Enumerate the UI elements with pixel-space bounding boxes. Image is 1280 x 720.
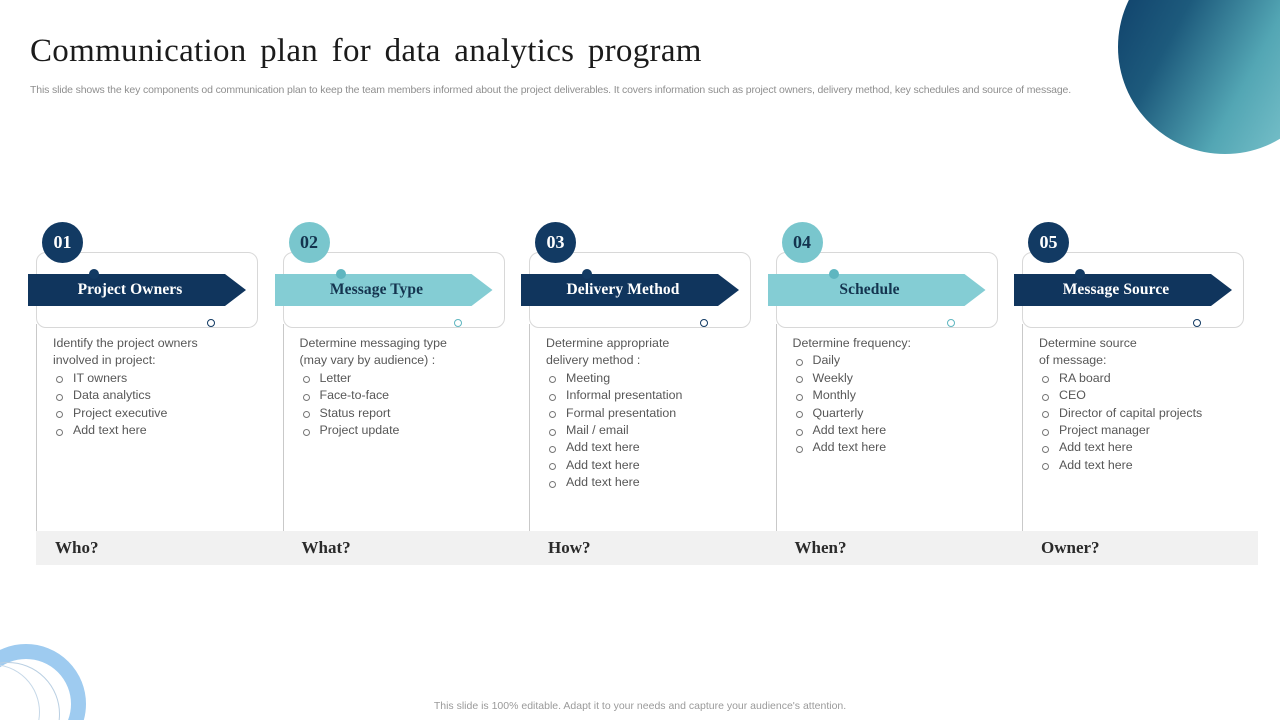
question-label-owner: Owner?	[1041, 531, 1100, 565]
question-label-what: What?	[302, 531, 351, 565]
list-item: Data analytics	[53, 387, 285, 404]
step-number-badge: 01	[42, 222, 83, 263]
plan-column-04[interactable]: Schedule04Determine frequency:DailyWeekl…	[776, 222, 1025, 532]
connector-dot-hollow	[207, 319, 215, 327]
list-item: RA board	[1039, 370, 1271, 387]
column-body: Identify the project owners involved in …	[53, 335, 285, 439]
column-banner[interactable]: Schedule	[768, 274, 986, 306]
plan-column-03[interactable]: Delivery Method03Determine appropriate d…	[529, 222, 778, 532]
plan-column-05[interactable]: Message Source05Determine source of mess…	[1022, 222, 1271, 532]
connector-dot-hollow	[700, 319, 708, 327]
column-divider	[36, 324, 37, 532]
connector-dot-hollow	[947, 319, 955, 327]
column-divider	[776, 324, 777, 532]
list-item: Add text here	[793, 439, 1025, 456]
column-banner[interactable]: Message Source	[1014, 274, 1232, 306]
communication-plan-columns: Project Owners01Identify the project own…	[36, 222, 1258, 532]
list-item: Add text here	[793, 422, 1025, 439]
connector-dot-filled	[89, 269, 99, 279]
list-item: Add text here	[1039, 439, 1271, 456]
column-bullet-list: DailyWeeklyMonthlyQuarterlyAdd text here…	[793, 352, 1025, 456]
list-item: Informal presentation	[546, 387, 778, 404]
list-item: Daily	[793, 352, 1025, 369]
list-item: Project update	[300, 422, 532, 439]
column-banner[interactable]: Project Owners	[28, 274, 246, 306]
list-item: CEO	[1039, 387, 1271, 404]
step-number-badge: 03	[535, 222, 576, 263]
column-body: Determine source of message:RA boardCEOD…	[1039, 335, 1271, 474]
connector-dot-filled	[829, 269, 839, 279]
list-item: Add text here	[1039, 457, 1271, 474]
column-banner-label: Schedule	[839, 281, 913, 299]
column-banner-label: Message Source	[1063, 281, 1184, 299]
list-item: Weekly	[793, 370, 1025, 387]
column-bullet-list: MeetingInformal presentationFormal prese…	[546, 370, 778, 492]
plan-column-01[interactable]: Project Owners01Identify the project own…	[36, 222, 285, 532]
column-bullet-list: LetterFace-to-faceStatus reportProject u…	[300, 370, 532, 440]
column-intro-text: Determine messaging type (may vary by au…	[300, 335, 532, 370]
column-bullet-list: RA boardCEODirector of capital projectsP…	[1039, 370, 1271, 474]
connector-dot-filled	[1075, 269, 1085, 279]
step-number-badge: 05	[1028, 222, 1069, 263]
connector-dot-hollow	[1193, 319, 1201, 327]
list-item: Project executive	[53, 405, 285, 422]
list-item: Formal presentation	[546, 405, 778, 422]
connector-dot-filled	[582, 269, 592, 279]
column-intro-text: Determine source of message:	[1039, 335, 1271, 370]
decorative-gradient-circle-top-right	[1118, 0, 1280, 154]
list-item: Add text here	[546, 457, 778, 474]
list-item: Project manager	[1039, 422, 1271, 439]
connector-dot-filled	[336, 269, 346, 279]
column-body: Determine frequency:DailyWeeklyMonthlyQu…	[793, 335, 1025, 457]
column-body: Determine messaging type (may vary by au…	[300, 335, 532, 439]
list-item: Quarterly	[793, 405, 1025, 422]
column-body: Determine appropriate delivery method :M…	[546, 335, 778, 492]
column-bullet-list: IT ownersData analyticsProject executive…	[53, 370, 285, 440]
slide-canvas: Communication plan for data analytics pr…	[0, 0, 1280, 720]
question-label-how: How?	[548, 531, 591, 565]
column-banner[interactable]: Delivery Method	[521, 274, 739, 306]
column-intro-text: Determine appropriate delivery method :	[546, 335, 778, 370]
column-banner-label: Project Owners	[78, 281, 197, 299]
list-item: Add text here	[546, 439, 778, 456]
question-label-when: When?	[795, 531, 847, 565]
slide-editable-note: This slide is 100% editable. Adapt it to…	[0, 700, 1280, 712]
connector-dot-hollow	[454, 319, 462, 327]
list-item: Face-to-face	[300, 387, 532, 404]
column-divider	[1022, 324, 1023, 532]
page-title: Communication plan for data analytics pr…	[30, 33, 702, 70]
list-item: Letter	[300, 370, 532, 387]
column-divider	[529, 324, 530, 532]
list-item: Director of capital projects	[1039, 405, 1271, 422]
column-divider	[283, 324, 284, 532]
question-label-band: Who?What?How?When?Owner?	[36, 531, 1258, 565]
list-item: Add text here	[546, 474, 778, 491]
list-item: Monthly	[793, 387, 1025, 404]
column-intro-text: Determine frequency:	[793, 335, 1025, 352]
question-label-who: Who?	[55, 531, 98, 565]
column-banner-label: Message Type	[330, 281, 437, 299]
column-intro-text: Identify the project owners involved in …	[53, 335, 285, 370]
list-item: Status report	[300, 405, 532, 422]
list-item: Add text here	[53, 422, 285, 439]
column-banner[interactable]: Message Type	[275, 274, 493, 306]
step-number-badge: 04	[782, 222, 823, 263]
list-item: IT owners	[53, 370, 285, 387]
column-banner-label: Delivery Method	[567, 281, 694, 299]
list-item: Mail / email	[546, 422, 778, 439]
step-number-badge: 02	[289, 222, 330, 263]
page-subtitle: This slide shows the key components od c…	[30, 83, 1195, 98]
plan-column-02[interactable]: Message Type02Determine messaging type (…	[283, 222, 532, 532]
list-item: Meeting	[546, 370, 778, 387]
